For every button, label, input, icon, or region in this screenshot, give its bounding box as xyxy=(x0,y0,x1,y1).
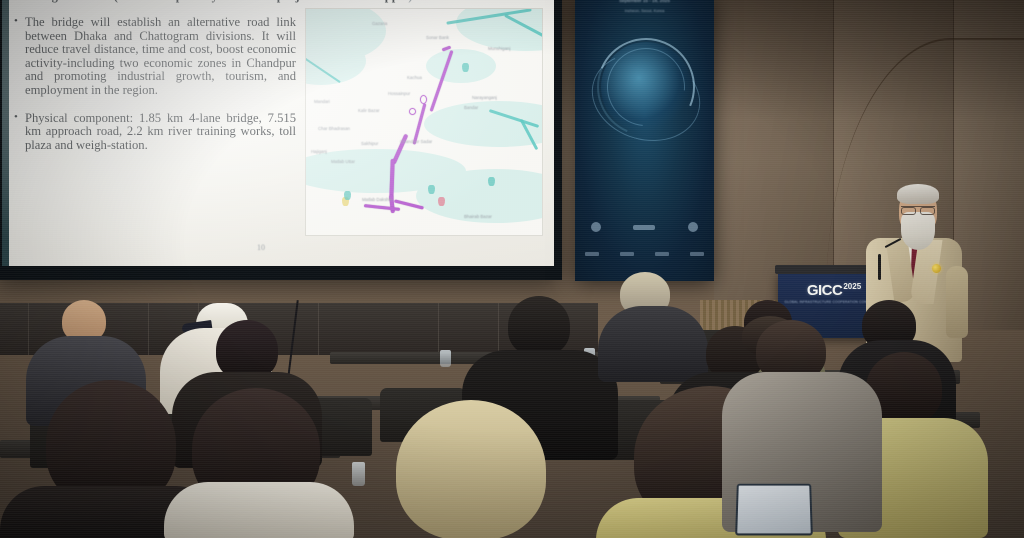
event-standing-banner: September 15 - 18, 2025 Incheon, Seoul, … xyxy=(575,0,714,281)
slide-title-text: Dhonagoda River (2025-2026 priority cand… xyxy=(16,0,399,3)
slide-title: Dhonagoda River (2025-2026 priority cand… xyxy=(16,0,536,4)
map-label: Bhairab Bazar xyxy=(464,214,492,219)
audience-head-dark-1 xyxy=(216,320,278,380)
audience-shoulders xyxy=(598,306,708,382)
sponsor-mark-4 xyxy=(690,252,704,256)
slide-accent-bar xyxy=(2,0,9,266)
sponsor-mark-3 xyxy=(655,252,669,256)
map-label: Sonar Bank xyxy=(426,35,449,40)
bridge-alignment-map: Gazaria Sonar Bank Munshiganj Kachua Hos… xyxy=(305,8,543,236)
panel-seam xyxy=(28,303,29,355)
map-label: Matlab Uttar xyxy=(331,159,355,164)
audience-head-front-blond xyxy=(396,400,546,538)
route-branch-left xyxy=(364,204,400,210)
projection-screen-frame: Dhonagoda River (2025-2026 priority cand… xyxy=(0,0,562,280)
microphone-stand xyxy=(878,254,881,280)
map-label: Narayanganj xyxy=(472,95,497,100)
panel-seam xyxy=(498,303,499,355)
sponsor-mark-1 xyxy=(585,252,599,256)
map-label: Char Bhadrasan xyxy=(318,126,350,131)
map-pin-2 xyxy=(428,185,435,194)
map-label: Gazaria xyxy=(372,21,387,26)
map-pin-3 xyxy=(438,197,445,206)
banner-partner-logos xyxy=(575,222,714,232)
panel-seam xyxy=(318,303,319,355)
audience-head-center-suit xyxy=(508,296,570,356)
audience-shoulders xyxy=(164,482,354,538)
laptop-screen[interactable] xyxy=(735,484,813,536)
slide-title-tail: ...) xyxy=(399,0,413,3)
map-label: Bandar xyxy=(464,105,478,110)
map-label: Hossainpur xyxy=(388,91,410,96)
map-pin-4 xyxy=(488,177,495,186)
partner-logo-right xyxy=(688,222,698,232)
screenshot-stage: Dhonagoda River (2025-2026 priority cand… xyxy=(0,0,1024,538)
route-node-loop-1 xyxy=(420,95,427,104)
banner-date-line: September 15 - 18, 2025 xyxy=(575,0,714,3)
sponsor-mark-2 xyxy=(620,252,634,256)
map-label: Chandpur Sadar xyxy=(400,139,432,144)
water-body-7 xyxy=(426,49,496,83)
map-label: Hajiganj xyxy=(311,149,327,154)
panel-seam xyxy=(148,303,149,355)
map-label: Sakhipur xyxy=(361,141,378,146)
map-pin-6 xyxy=(344,191,351,200)
slide-page-number: 10 xyxy=(257,243,265,252)
partner-logo-left xyxy=(591,222,601,232)
map-pin-1 xyxy=(462,63,469,72)
map-label: Kalir Bazar xyxy=(358,108,379,113)
banner-sponsor-row xyxy=(575,252,714,256)
slide-bullet-2: Physical component: 1.85 km 4-lane bridg… xyxy=(14,112,296,153)
partner-logo-center xyxy=(633,225,655,230)
projection-screen: Dhonagoda River (2025-2026 priority cand… xyxy=(2,0,554,266)
presenter-arm xyxy=(946,266,968,338)
lapel-pin-icon xyxy=(932,264,941,273)
map-label: Kachua xyxy=(407,75,422,80)
globe-swoosh-tail xyxy=(581,41,710,154)
route-node-loop-2 xyxy=(409,108,416,115)
water-glass-1 xyxy=(440,350,451,367)
presenter-hair xyxy=(897,184,939,204)
map-label: Munshiganj xyxy=(488,46,510,51)
podium-logo-text: GICC xyxy=(807,282,843,299)
banner-location-line: Incheon, Seoul, Korea xyxy=(575,8,714,13)
slide-bullet-list: The bridge will establish an alternative… xyxy=(14,16,296,166)
water-glass-3 xyxy=(352,462,365,486)
map-label: Mandari xyxy=(314,99,330,104)
slide-bullet-1: The bridge will establish an alternative… xyxy=(14,16,296,98)
presenter-beard xyxy=(901,212,935,250)
panel-seam xyxy=(438,303,439,355)
map-label: Matlab Dakshin xyxy=(362,197,392,202)
glasses-icon xyxy=(901,206,935,213)
